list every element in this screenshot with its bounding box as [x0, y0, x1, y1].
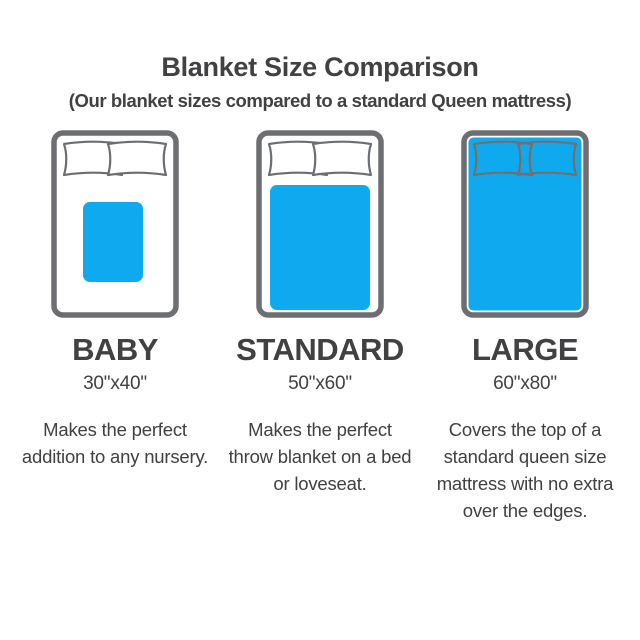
heading: Blanket Size Comparison (Our blanket siz…: [0, 0, 640, 111]
column-baby: BABY 30"x40" Makes the perfect addition …: [13, 130, 218, 470]
size-name-standard: STANDARD: [236, 334, 404, 365]
size-dimensions-standard: 50"x60": [288, 374, 352, 393]
blanket-large: [469, 138, 582, 311]
size-dimensions-large: 60"x80": [493, 374, 557, 393]
size-name-large: LARGE: [472, 334, 578, 365]
bed-diagram-large: [461, 130, 589, 318]
page-subtitle: (Our blanket sizes compared to a standar…: [0, 90, 640, 111]
blanket-standard: [270, 185, 370, 310]
bed-diagram-baby: [51, 130, 179, 318]
blanket-baby: [83, 202, 143, 282]
blanket-size-comparison-infographic: Blanket Size Comparison (Our blanket siz…: [0, 0, 640, 640]
page-title: Blanket Size Comparison: [0, 52, 640, 83]
column-standard: STANDARD 50"x60" Makes the perfect throw…: [218, 130, 423, 497]
description-baby: Makes the perfect addition to any nurser…: [20, 416, 210, 470]
size-name-baby: BABY: [72, 334, 158, 365]
pillow-right-icon: [108, 142, 166, 175]
description-standard: Makes the perfect throw blanket on a bed…: [225, 416, 415, 497]
bed-diagram-standard: [256, 130, 384, 318]
description-large: Covers the top of a standard queen size …: [430, 416, 620, 524]
size-dimensions-baby: 30"x40": [83, 374, 147, 393]
column-large: LARGE 60"x80" Covers the top of a standa…: [423, 130, 628, 524]
pillow-right-icon: [313, 142, 371, 175]
comparison-columns: BABY 30"x40" Makes the perfect addition …: [0, 130, 640, 524]
